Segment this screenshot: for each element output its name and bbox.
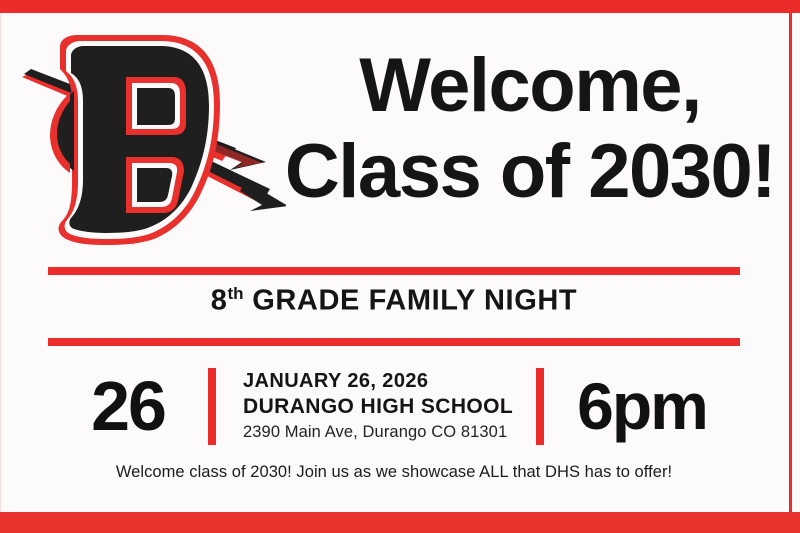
title-line-2: Class of 2030! <box>280 135 780 209</box>
right-border-bar <box>789 13 792 512</box>
page-title: Welcome, Class of 2030! <box>280 49 780 210</box>
event-details-row: 26 JANUARY 26, 2026 DURANGO HIGH SCHOOL … <box>48 360 740 452</box>
vertical-divider-left <box>208 368 216 445</box>
event-address: 2390 Main Ave, Durango CO 81301 <box>243 422 526 443</box>
subtitle-grade-number: 8 <box>211 285 228 317</box>
divider-rule-top <box>48 267 740 275</box>
event-blurb: Welcome class of 2030! Join us as we sho… <box>48 463 740 482</box>
durango-demons-d-logo-icon <box>14 31 286 256</box>
school-logo <box>14 31 286 256</box>
flyer-header: Welcome, Class of 2030! <box>0 13 789 266</box>
subtitle-ordinal-suffix: th <box>228 284 244 303</box>
vertical-divider-right <box>536 368 544 445</box>
divider-rule-bottom <box>48 338 740 346</box>
event-venue: DURANGO HIGH SCHOOL <box>243 394 526 421</box>
event-center-info: JANUARY 26, 2026 DURANGO HIGH SCHOOL 239… <box>216 369 536 444</box>
title-line-1: Welcome, <box>280 49 780 123</box>
event-day-number: 26 <box>48 371 208 441</box>
top-border-bar <box>0 0 800 13</box>
event-time: 6pm <box>544 373 740 439</box>
subtitle-rest: GRADE FAMILY NIGHT <box>244 285 578 317</box>
event-subtitle: 8th GRADE FAMILY NIGHT <box>48 284 740 318</box>
event-flyer: Welcome, Class of 2030! 8th GRADE FAMILY… <box>0 0 800 533</box>
bottom-border-bar <box>0 512 800 533</box>
event-date: JANUARY 26, 2026 <box>243 369 526 395</box>
